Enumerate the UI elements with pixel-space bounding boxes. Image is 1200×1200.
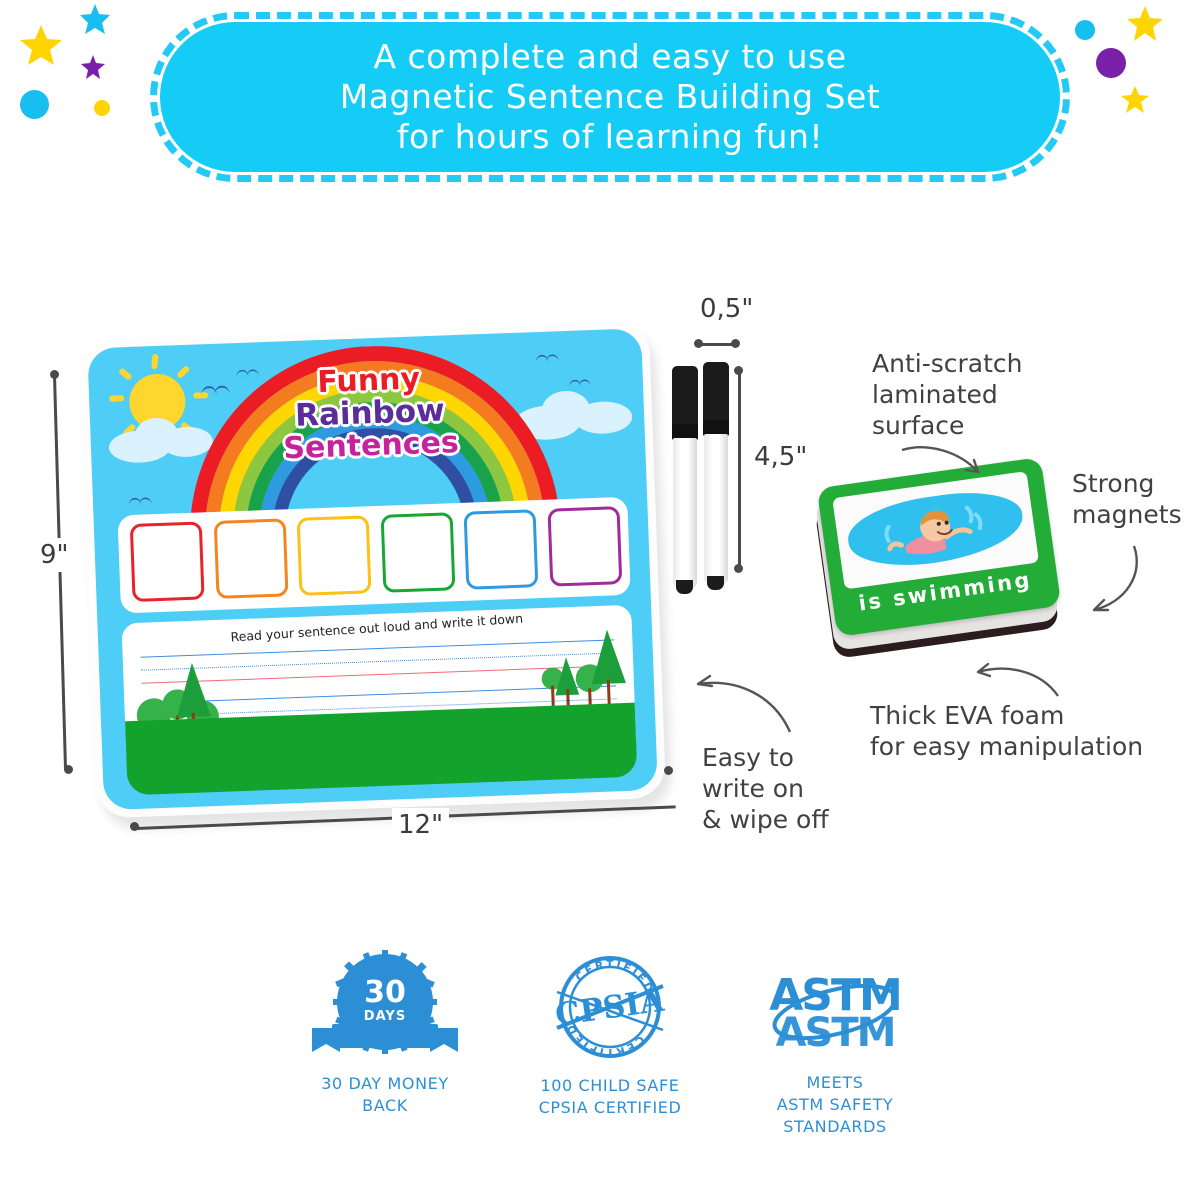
dimension-label-width: 12"	[392, 808, 449, 842]
star-icon	[18, 22, 64, 68]
word-slot-strip	[117, 497, 630, 614]
money-back-seal-icon: 30 DAYS	[310, 950, 460, 1065]
dimension-label-marker-height: 4,5"	[748, 440, 813, 474]
badge-caption: MEETS ASTM SAFETY STANDARDS	[730, 1072, 940, 1138]
star-icon	[1125, 4, 1165, 44]
confetti-dot	[94, 100, 110, 116]
board-title: Funny Rainbow Sentences	[268, 361, 471, 467]
badge-caption: 30 DAY MONEY BACK	[280, 1073, 490, 1117]
arrow-icon	[1058, 540, 1148, 626]
badge-caption: 100 CHILD SAFE CPSIA CERTIFIED	[505, 1075, 715, 1119]
star-icon	[1120, 84, 1150, 114]
banner-text: A complete and easy to use Magnetic Sent…	[160, 22, 1060, 172]
certification-badges: 30 DAYS 30 DAY MONEY BACK CERTIFIED	[280, 950, 940, 1140]
write-hint-text: Read your sentence out loud and write it…	[122, 605, 632, 652]
dimension-label-marker-width: 0,5"	[694, 292, 759, 326]
callout-strong-magnets: Strong magnets	[1072, 468, 1182, 530]
board-sky-surface: Funny Rainbow Sentences Read your senten…	[87, 328, 658, 810]
badge-cpsia-certified: CERTIFIED CERTIFIED CPSIA 100 CHILD SAFE…	[505, 952, 715, 1119]
svg-text:30: 30	[364, 975, 406, 1010]
star-icon	[78, 2, 112, 36]
word-slot[interactable]	[547, 506, 622, 587]
magnet-tile[interactable]: is swimming	[818, 470, 1068, 660]
bird-icon	[569, 380, 581, 388]
word-slot[interactable]	[464, 509, 539, 590]
word-slot[interactable]	[213, 518, 288, 599]
confetti-dot	[1075, 20, 1095, 40]
callout-anti-scratch: Anti-scratch laminated surface	[872, 348, 1022, 441]
header-banner: A complete and easy to use Magnetic Sent…	[160, 22, 1060, 172]
cpsia-seal-icon: CERTIFIED CERTIFIED CPSIA	[535, 952, 685, 1067]
banner-line-3: for hours of learning fun!	[397, 117, 823, 157]
callout-eva-foam: Thick EVA foam for easy manipulation	[870, 700, 1143, 762]
infographic-canvas: A complete and easy to use Magnetic Sent…	[0, 0, 1200, 1200]
confetti-dot	[20, 90, 49, 119]
confetti-dot	[1096, 48, 1126, 78]
guide-line-group	[142, 685, 616, 702]
svg-text:DAYS: DAYS	[364, 1009, 406, 1024]
whiteboard-product: Funny Rainbow Sentences Read your senten…	[79, 320, 677, 841]
star-icon	[80, 54, 106, 80]
badge-astm-safety: ASTM ASTM MEETS ASTM SAFETY STANDARDS	[730, 954, 940, 1138]
astm-seal-icon: ASTM ASTM	[760, 954, 910, 1064]
bird-icon	[128, 498, 141, 506]
word-slot[interactable]	[130, 521, 205, 602]
banner-line-2: Magnetic Sentence Building Set	[340, 77, 880, 117]
banner-line-1: A complete and easy to use	[373, 37, 846, 77]
callout-easy-write: Easy to write on & wipe off	[702, 742, 829, 835]
arrow-icon	[898, 440, 998, 492]
board-title-line-3: Sentences	[271, 428, 472, 465]
dimension-label-height: 9"	[34, 538, 75, 572]
arrow-icon	[690, 674, 796, 738]
word-slot[interactable]	[380, 512, 455, 593]
badge-30-day-money-back: 30 DAYS 30 DAY MONEY BACK	[280, 950, 490, 1117]
swimming-girl-icon	[878, 495, 996, 574]
word-slot[interactable]	[297, 515, 372, 596]
arrow-icon	[944, 660, 1064, 708]
